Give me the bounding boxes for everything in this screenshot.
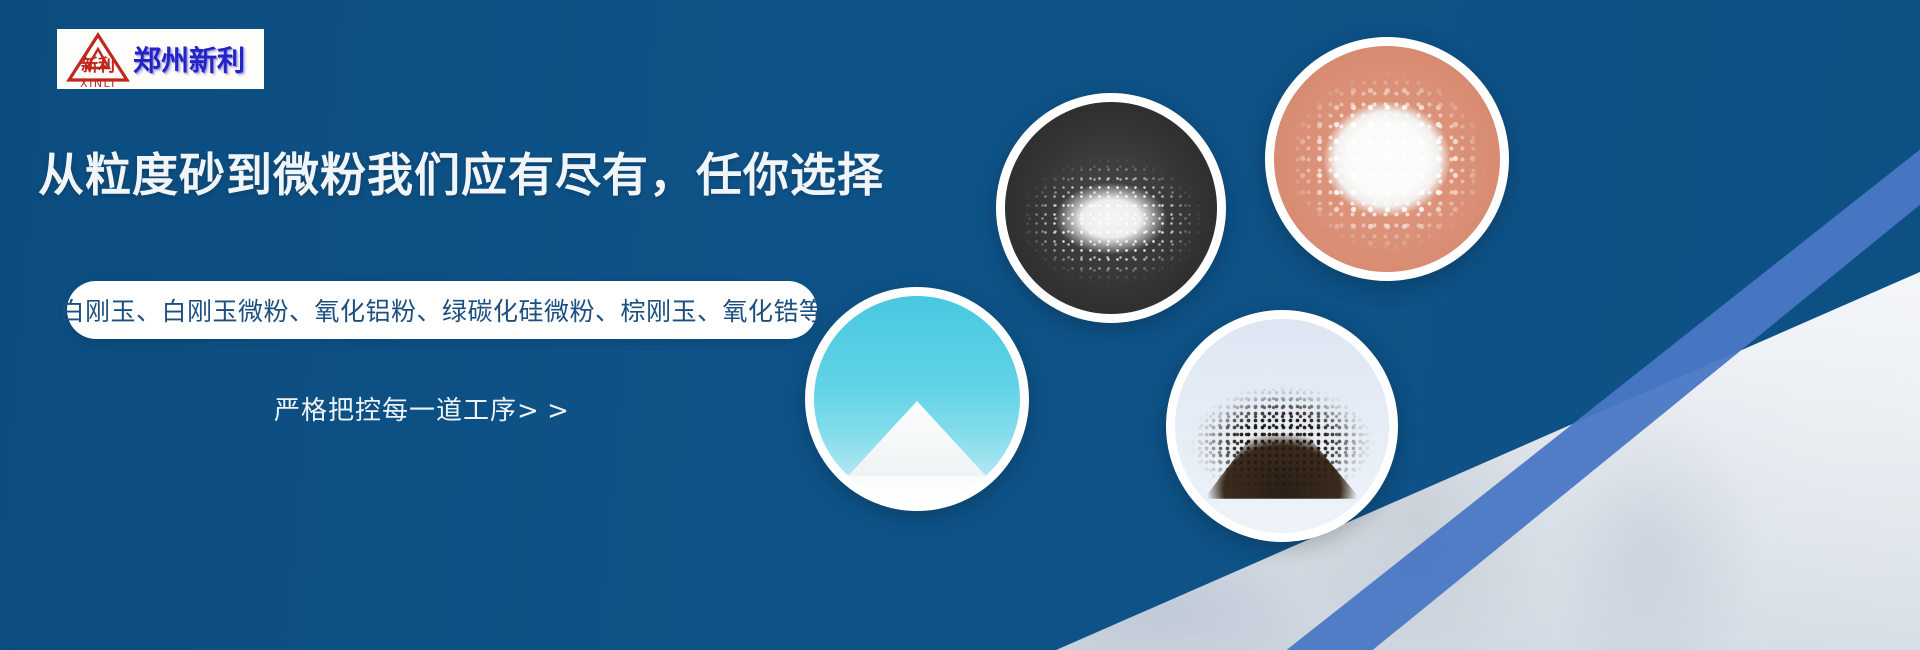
white-fused-alumina-grain-image [1005,102,1217,314]
promo-banner: 新利 XINLI 郑州新利 从粒度砂到微粉我们应有尽有，任你选择 白刚玉、白刚玉… [0,0,1920,650]
product-circle-white-fused-alumina-grain [996,93,1226,323]
svg-text:XINLI: XINLI [80,77,116,88]
xinli-triangle-logo-icon: 新利 XINLI [65,30,131,88]
product-list-pill: 白刚玉、白刚玉微粉、氧化铝粉、绿碳化硅微粉、棕刚玉、氧化锆等 [67,281,817,339]
tagline-link[interactable]: 严格把控每一道工序> > [274,390,569,427]
tagline-text: 严格把控每一道工序 [274,396,517,426]
company-name-text: 郑州新利 [133,39,245,79]
product-circle-white-micro-powder [805,287,1029,511]
grain-mound-shape [1201,396,1364,499]
product-list-text: 白刚玉、白刚玉微粉、氧化铝粉、绿碳化硅微粉、棕刚玉、氧化锆等 [60,292,825,328]
product-circle-brown-fused-alumina-grain [1166,310,1398,542]
tagline-arrows: > > [517,396,569,426]
white-micro-powder-image [814,296,1020,502]
brown-fused-alumina-grain-image [1175,319,1389,533]
alumina-powder-image [1274,46,1500,272]
headline-text: 从粒度砂到微粉我们应有尽有，任你选择 [38,139,884,205]
svg-text:新利: 新利 [81,55,115,76]
powder-heap-base [814,476,1020,502]
product-circle-alumina-powder [1265,37,1509,281]
company-logo[interactable]: 新利 XINLI 郑州新利 [57,29,264,89]
